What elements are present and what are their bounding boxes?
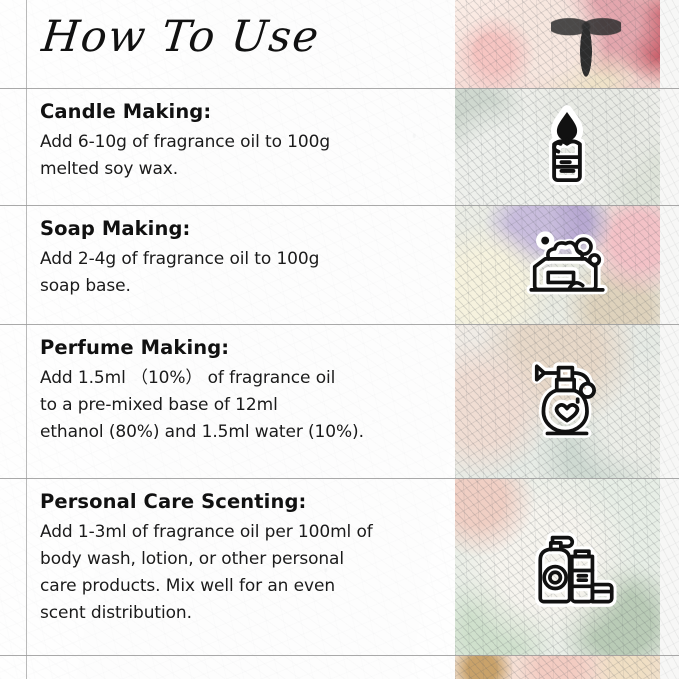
engraving-lines — [455, 655, 679, 679]
section-heading: Candle Making: — [40, 100, 443, 123]
floral-illustration-column — [455, 0, 679, 679]
engraving-lines — [455, 324, 679, 478]
page-title: How To Use — [39, 12, 322, 62]
art-band-soap — [455, 205, 679, 324]
section-heading: Perfume Making: — [40, 336, 443, 359]
section-body: Add 6-10g of fragrance oil to 100g melte… — [40, 129, 443, 183]
section-heading: Soap Making: — [40, 217, 443, 240]
how-to-use-poster: How To Use Candle Making: Add 6-10g of f… — [0, 0, 679, 679]
art-band-perfume — [455, 324, 679, 478]
section-personal-care-scenting: Personal Care Scenting: Add 1-3ml of fra… — [0, 478, 455, 627]
section-candle-making: Candle Making: Add 6-10g of fragrance oi… — [0, 88, 455, 183]
engraving-lines — [455, 205, 679, 324]
engraving-lines — [455, 0, 679, 88]
section-body: Add 1.5ml （10%） of fragrance oil to a pr… — [40, 365, 443, 446]
engraving-lines — [455, 88, 679, 205]
rose-and-dragonfly-band — [455, 0, 679, 88]
section-heading: Personal Care Scenting: — [40, 490, 443, 513]
section-perfume-making: Perfume Making: Add 1.5ml （10%） of fragr… — [0, 324, 455, 446]
engraving-lines — [455, 478, 679, 655]
title-row: How To Use — [0, 0, 455, 88]
content-column: How To Use Candle Making: Add 6-10g of f… — [0, 0, 455, 679]
section-soap-making: Soap Making: Add 2-4g of fragrance oil t… — [0, 205, 455, 300]
right-page-margin — [660, 0, 679, 679]
floral-bottom-band — [455, 655, 679, 679]
art-band-candle — [455, 88, 679, 205]
art-band-personal-care — [455, 478, 679, 655]
section-body: Add 2-4g of fragrance oil to 100g soap b… — [40, 246, 443, 300]
section-body: Add 1-3ml of fragrance oil per 100ml of … — [40, 519, 443, 627]
